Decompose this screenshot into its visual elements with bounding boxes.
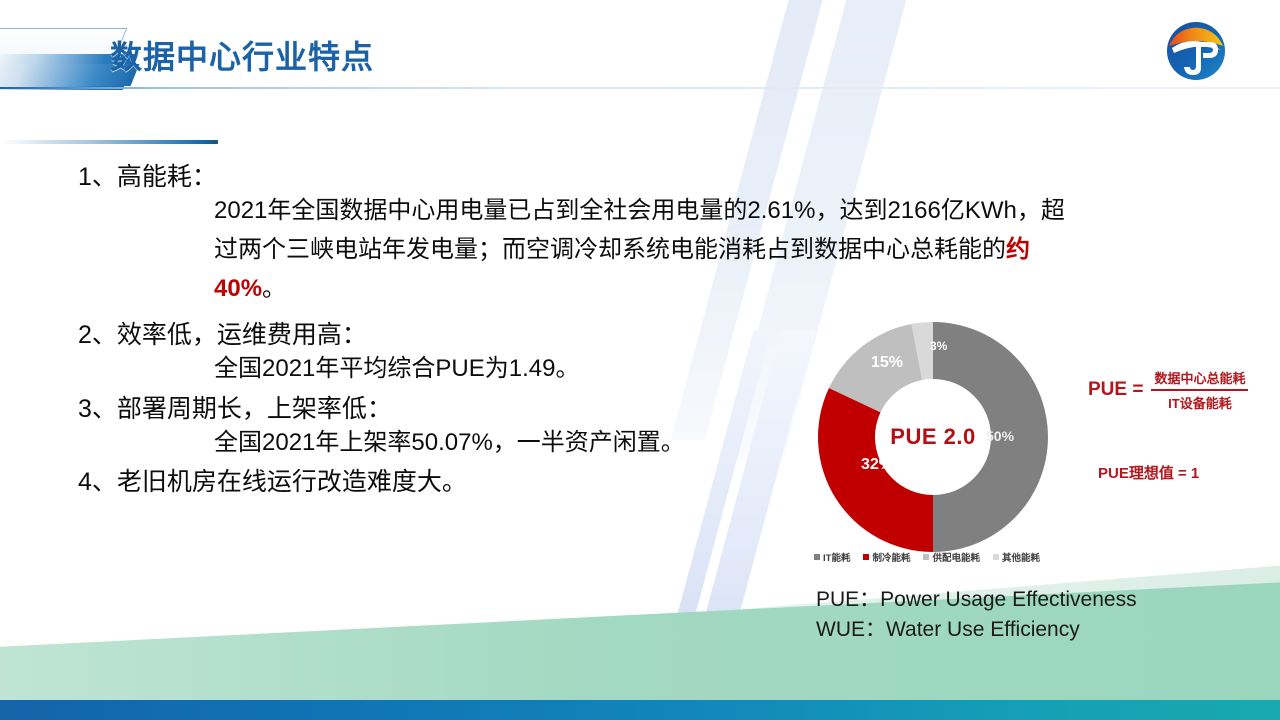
pue-ideal-value: PUE理想值 = 1 <box>1098 462 1199 483</box>
donut-chart-svg <box>818 322 1048 552</box>
legend-item-cooling: 制冷能耗 <box>863 550 910 564</box>
point-1-body-suffix: 。 <box>262 275 286 302</box>
pue-formula-denominator: IT设备能耗 <box>1151 391 1248 412</box>
company-logo-icon <box>1163 20 1229 82</box>
legend-swatch-power <box>923 554 929 560</box>
company-logo <box>1163 20 1229 82</box>
slide-canvas: 数据中心行业特点 1、高能耗 <box>0 0 1280 720</box>
header-divider-line <box>0 87 1280 89</box>
abbreviation-wue: WUE：Water Use Efficiency <box>816 615 1137 645</box>
legend-label-power: 供配电能耗 <box>932 550 980 564</box>
abbreviation-list: PUE：Power Usage Effectiveness WUE：Water … <box>816 585 1137 646</box>
legend-label-cooling: 制冷能耗 <box>872 550 910 564</box>
abbreviation-pue: PUE：Power Usage Effectiveness <box>816 585 1137 615</box>
pue-formula: PUE = 数据中心总能耗 IT设备能耗 <box>1088 368 1248 412</box>
pue-formula-numerator: 数据中心总能耗 <box>1151 368 1248 391</box>
bottom-accent-bar <box>0 700 1280 720</box>
point-1-body: 2021年全国数据中心用电量已占到全社会用电量的2.61%，达到2166亿KWh… <box>78 192 1088 309</box>
pue-formula-fraction: 数据中心总能耗 IT设备能耗 <box>1151 368 1248 412</box>
legend-item-power: 供配电能耗 <box>923 550 980 564</box>
point-1-body-prefix: 2021年全国数据中心用电量已占到全社会用电量的2.61%，达到2166亿KWh… <box>214 197 1065 263</box>
page-title: 数据中心行业特点 <box>110 32 374 78</box>
legend-swatch-other <box>993 554 999 560</box>
pue-formula-row: PUE = 数据中心总能耗 IT设备能耗 <box>1088 368 1248 412</box>
legend-swatch-cooling <box>863 554 869 560</box>
legend-label-other: 其他能耗 <box>1002 550 1040 564</box>
donut-hole <box>875 379 991 495</box>
pue-donut-chart: PUE 2.0 50% 32% 15% 3% IT能耗 制冷能耗 供配电能耗 其… <box>818 322 1058 572</box>
legend-label-it: IT能耗 <box>823 550 850 564</box>
pue-formula-lhs: PUE = <box>1088 379 1143 401</box>
title-accent-rule <box>0 140 218 144</box>
legend-item-other: 其他能耗 <box>993 550 1040 564</box>
point-1-heading: 1、高能耗： <box>78 165 1088 190</box>
chart-legend: IT能耗 制冷能耗 供配电能耗 其他能耗 <box>814 550 1040 564</box>
legend-item-it: IT能耗 <box>814 550 850 564</box>
legend-swatch-it <box>814 554 820 560</box>
